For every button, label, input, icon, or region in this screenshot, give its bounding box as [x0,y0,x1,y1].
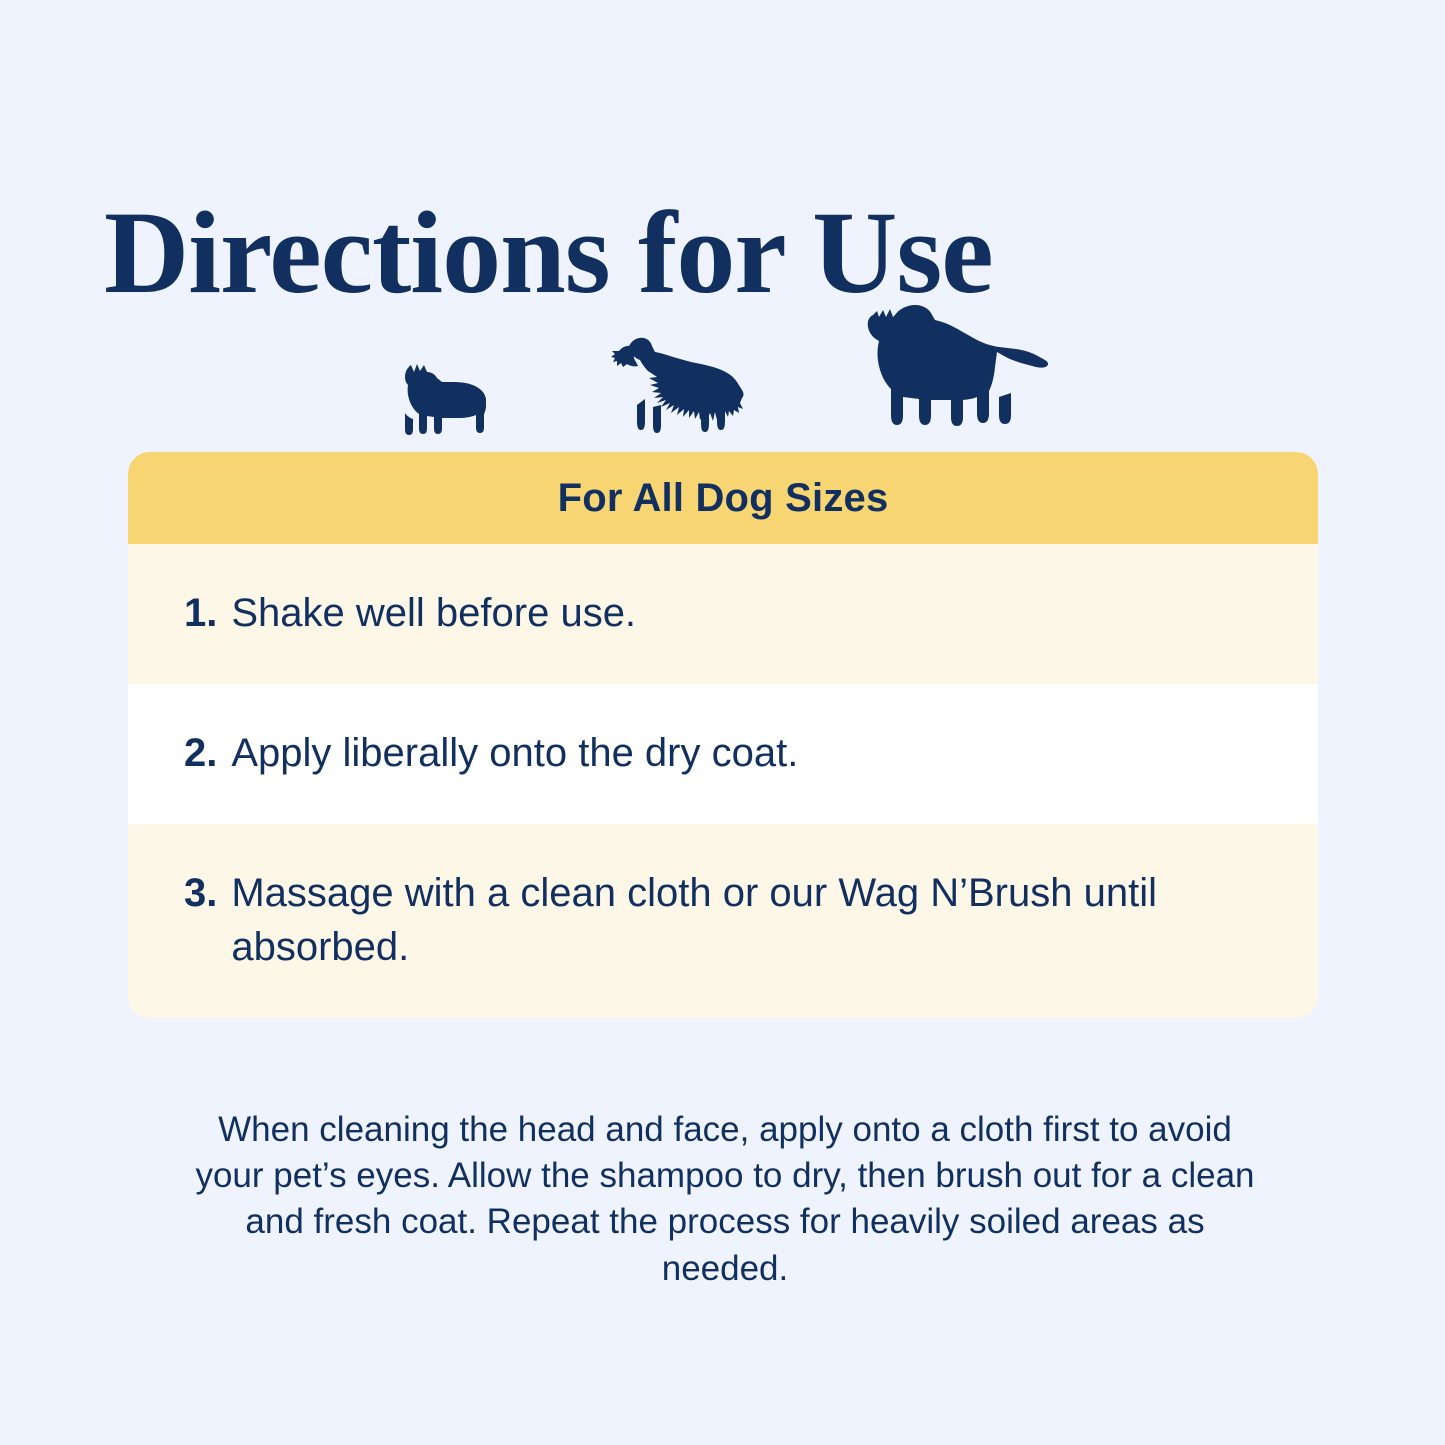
dog-size-illustration [0,292,1445,437]
steps-list: 1. Shake well before use. 2. Apply liber… [128,544,1318,1018]
small-dog-silhouette-icon [397,359,495,437]
step-number: 1. [184,586,217,640]
large-dog-silhouette-icon [859,301,1049,437]
step-text: Apply liberally onto the dry coat. [231,726,798,780]
step-text: Massage with a clean cloth or our Wag N’… [231,866,1241,974]
card-header: For All Dog Sizes [128,452,1318,544]
step-text: Shake well before use. [231,586,636,640]
step-item: 1. Shake well before use. [128,544,1318,684]
footnote-text: When cleaning the head and face, apply o… [190,1107,1260,1292]
step-number: 2. [184,726,217,780]
directions-card: For All Dog Sizes 1. Shake well before u… [128,452,1318,1018]
card-header-title: For All Dog Sizes [558,476,889,521]
step-number: 3. [184,866,217,920]
directions-for-use-page: Directions for Use For All Dog Sizes 1. [0,0,1445,1445]
step-item: 3. Massage with a clean cloth or our Wag… [128,824,1318,1018]
medium-dog-silhouette-icon [603,333,751,437]
step-item: 2. Apply liberally onto the dry coat. [128,684,1318,824]
